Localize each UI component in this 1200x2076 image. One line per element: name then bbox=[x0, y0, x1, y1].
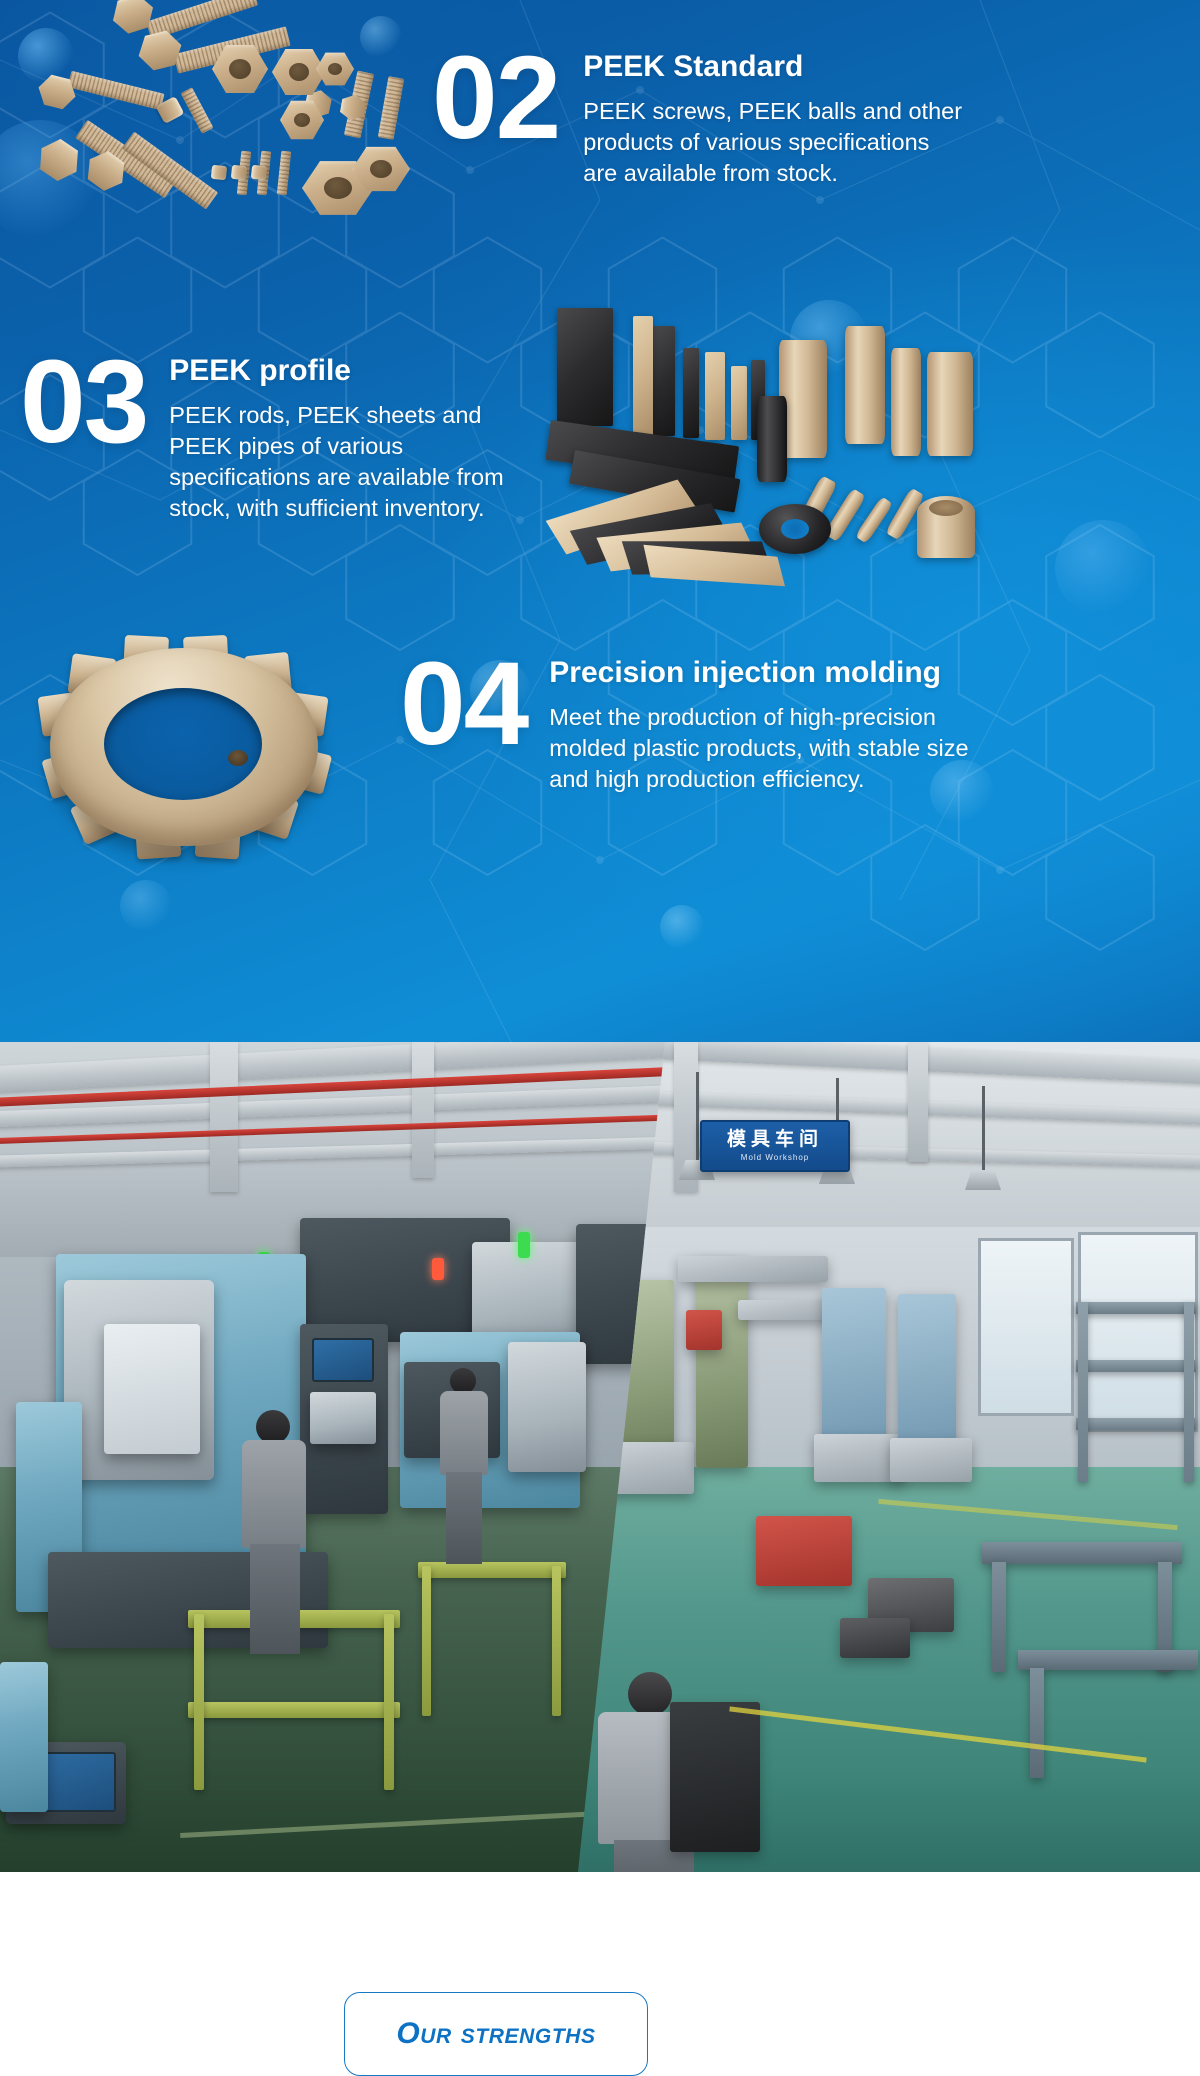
feature-block-04: 04 Precision injection molding Meet the … bbox=[400, 650, 1010, 795]
feature-title-04: Precision injection molding bbox=[549, 656, 969, 691]
feature-number-02: 02 bbox=[432, 44, 559, 153]
feature-title-03: PEEK profile bbox=[169, 354, 537, 389]
feature-title-02: PEEK Standard bbox=[583, 50, 965, 85]
peek-rods-sheets-pipes-photo bbox=[545, 300, 1000, 600]
feature-body-04: Meet the production of high-precision mo… bbox=[549, 702, 969, 796]
feature-block-02: 02 PEEK Standard PEEK screws, PEEK balls… bbox=[432, 44, 1032, 189]
hero-section: 02 PEEK Standard PEEK screws, PEEK balls… bbox=[0, 0, 1200, 1060]
sign-text-english: Mold Workshop bbox=[741, 1153, 809, 1162]
feature-number-03: 03 bbox=[20, 348, 147, 457]
our-strengths-label: Our strengths bbox=[396, 2017, 595, 2051]
feature-body-02: PEEK screws, PEEK balls and other produc… bbox=[583, 96, 965, 190]
feature-number-04: 04 bbox=[400, 650, 527, 759]
product-feature-page: 02 PEEK Standard PEEK screws, PEEK balls… bbox=[0, 0, 1200, 1872]
peek-screws-bolts-nuts-photo bbox=[26, 0, 426, 262]
feature-body-03: PEEK rods, PEEK sheets and PEEK pipes of… bbox=[169, 400, 537, 525]
feature-block-03: 03 PEEK profile PEEK rods, PEEK sheets a… bbox=[20, 348, 580, 525]
mold-workshop-sign: 模具车间 Mold Workshop bbox=[700, 1120, 850, 1172]
our-strengths-pill: Our strengths bbox=[344, 1992, 648, 2076]
peek-gear-ring-photo bbox=[32, 622, 342, 887]
cnc-machining-workshop-photo bbox=[0, 1042, 680, 1872]
mold-workshop-photo: 模具车间 Mold Workshop bbox=[578, 1042, 1200, 1872]
sign-text-chinese: 模具车间 bbox=[727, 1130, 823, 1151]
workshop-photos-section: 模具车间 Mold Workshop bbox=[0, 1042, 1200, 1872]
